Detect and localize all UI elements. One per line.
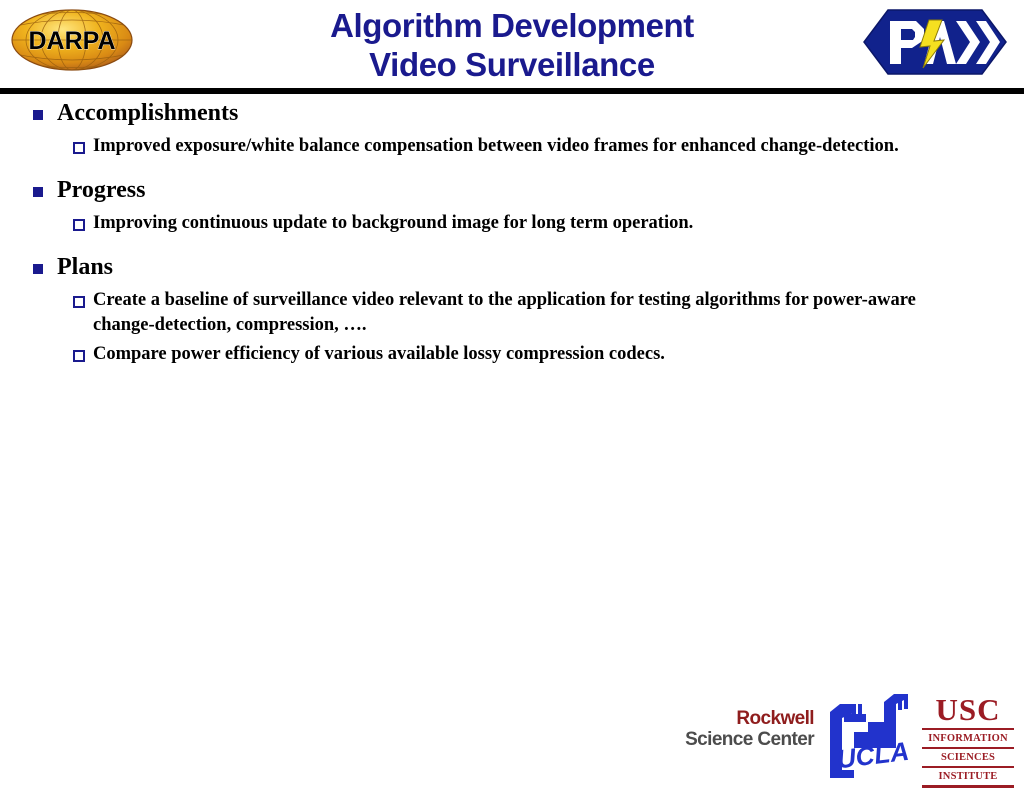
usc-logo-acronym: USC — [920, 693, 1016, 726]
hollow-square-bullet-icon — [73, 219, 85, 231]
list-item: Improving continuous update to backgroun… — [0, 211, 1024, 236]
usc-logo-line-1: INFORMATION — [920, 732, 1016, 745]
page-title-line-2: Video Surveillance — [150, 45, 874, 84]
filled-square-bullet-icon — [33, 264, 43, 274]
ucla-logo-text: UCLA — [835, 736, 910, 775]
footer-logos: Rockwell Science Center — [0, 690, 1024, 791]
darpa-logo: DARPA — [8, 6, 136, 74]
filled-square-bullet-icon — [33, 187, 43, 197]
hollow-square-bullet-icon — [73, 296, 85, 308]
header-divider — [0, 88, 1024, 94]
pacc-logo — [860, 4, 1010, 80]
ucla-logo-icon: UCLA — [824, 692, 916, 784]
rockwell-logo-line-1: Rockwell — [614, 708, 814, 729]
list-item-label: Compare power efficiency of various avai… — [93, 342, 954, 367]
darpa-logo-icon: DARPA — [8, 6, 136, 74]
section-heading-label: Progress — [57, 175, 1024, 205]
section-heading-progress: Progress — [0, 175, 1024, 205]
hollow-square-bullet-icon — [73, 350, 85, 362]
section-items-progress: Improving continuous update to backgroun… — [0, 211, 1024, 236]
usc-logo-rule — [922, 766, 1014, 768]
darpa-logo-text: DARPA — [28, 27, 115, 55]
list-item-label: Improving continuous update to backgroun… — [93, 211, 954, 236]
usc-isi-logo: USC INFORMATION SCIENCES INSTITUTE — [920, 693, 1016, 785]
usc-logo-rule — [922, 728, 1014, 730]
usc-logo-rule — [922, 785, 1014, 788]
section-heading-plans: Plans — [0, 252, 1024, 282]
list-item: Compare power efficiency of various avai… — [0, 342, 1024, 367]
list-item-label: Improved exposure/white balance compensa… — [93, 134, 954, 159]
section-heading-accomplishments: Accomplishments — [0, 98, 1024, 128]
page-title-line-1: Algorithm Development — [150, 6, 874, 45]
section-items-plans: Create a baseline of surveillance video … — [0, 288, 1024, 367]
ucla-logo: UCLA — [824, 692, 916, 784]
slide-body: Accomplishments Improved exposure/white … — [0, 98, 1024, 383]
usc-logo-rule — [922, 747, 1014, 749]
section-items-accomplishments: Improved exposure/white balance compensa… — [0, 134, 1024, 159]
page-title: Algorithm Development Video Surveillance — [150, 6, 874, 84]
usc-logo-line-3: INSTITUTE — [920, 770, 1016, 783]
hollow-square-bullet-icon — [73, 142, 85, 154]
rockwell-science-center-logo: Rockwell Science Center — [614, 708, 814, 750]
rockwell-logo-line-2: Science Center — [614, 729, 814, 750]
usc-logo-line-2: SCIENCES — [920, 751, 1016, 764]
filled-square-bullet-icon — [33, 110, 43, 120]
list-item-label: Create a baseline of surveillance video … — [93, 288, 954, 338]
section-heading-label: Plans — [57, 252, 1024, 282]
list-item: Improved exposure/white balance compensa… — [0, 134, 1024, 159]
section-heading-label: Accomplishments — [57, 98, 1024, 128]
slide-header: DARPA Algorithm Development Video Survei… — [0, 0, 1024, 95]
pacc-logo-icon — [860, 4, 1010, 80]
list-item: Create a baseline of surveillance video … — [0, 288, 1024, 338]
